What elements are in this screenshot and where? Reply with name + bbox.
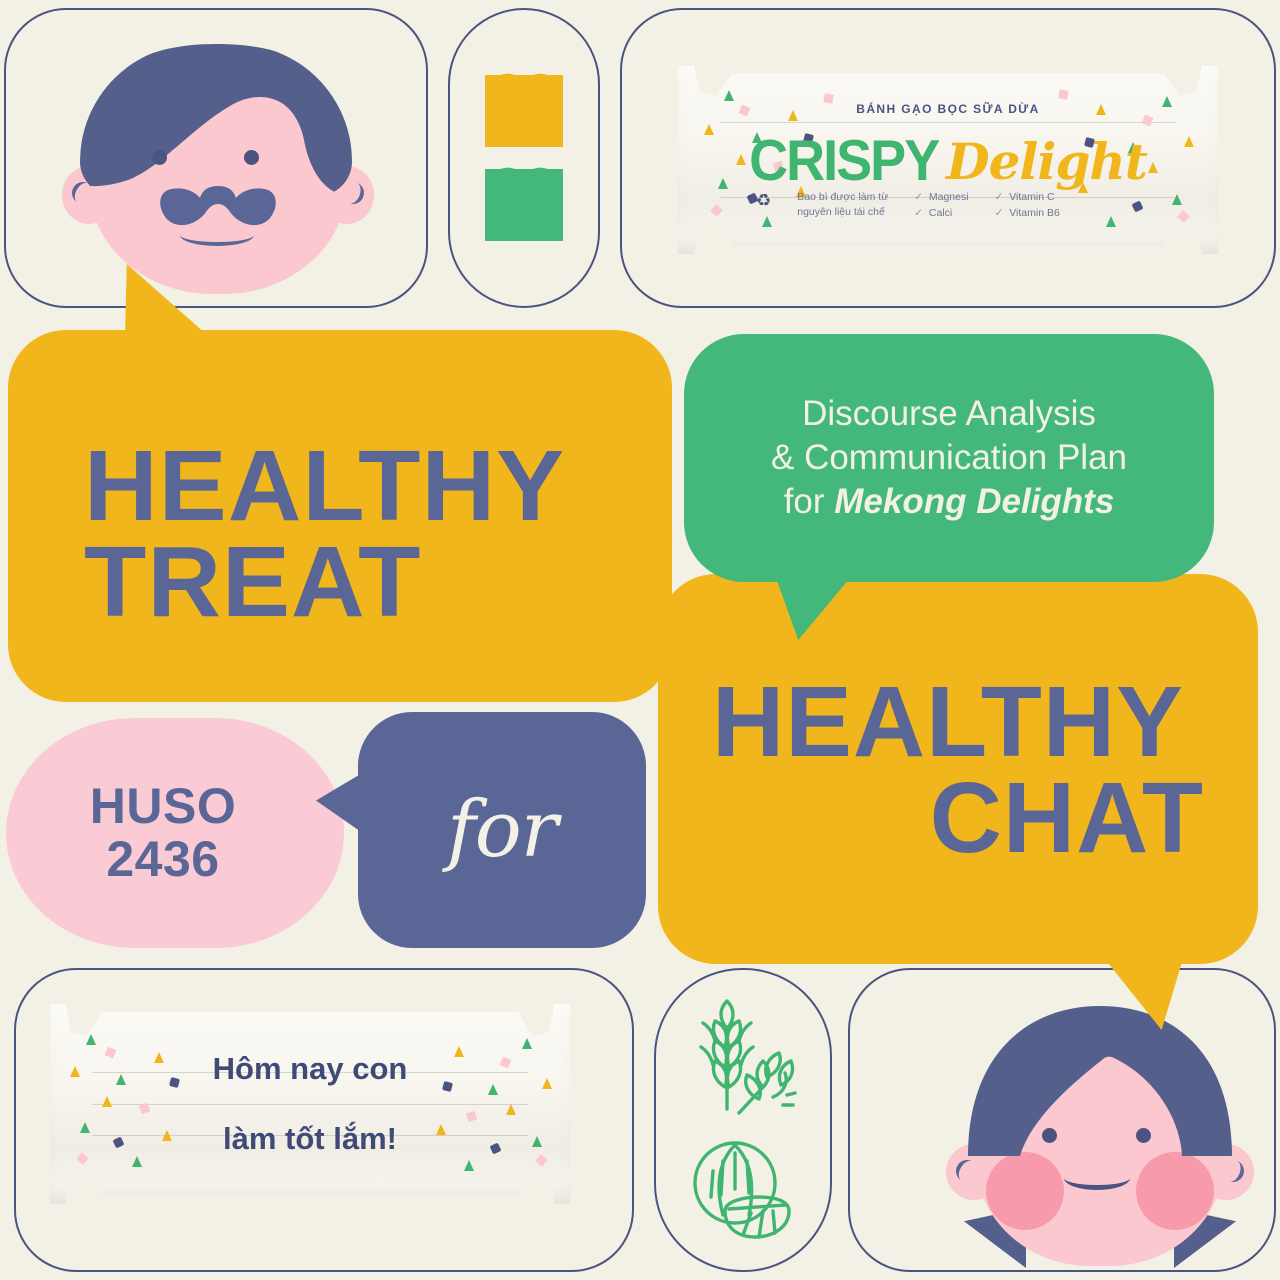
girl-smile bbox=[1064, 1166, 1130, 1190]
product-package: BÁNH GẠO BỌC SỮA DỪA CRISPY Delight ♻ Ba… bbox=[678, 66, 1218, 254]
project-title-text: Discourse Analysis & Communication Plan … bbox=[684, 334, 1214, 582]
heart-icon-green bbox=[485, 169, 563, 241]
bubble-chat-text: HEALTHY CHAT bbox=[658, 674, 1258, 866]
pack-footer: ♻ Bao bì được làm từ nguyên liệu tái chế… bbox=[756, 190, 1158, 223]
brand-secondary: Delight bbox=[946, 132, 1147, 191]
pack-message-line-2: làm tốt lắm! bbox=[223, 1121, 397, 1157]
pack-message-text: Hôm nay con làm tốt lắm! bbox=[50, 1004, 570, 1204]
course-code-badge: HUSO 2436 bbox=[6, 718, 344, 948]
project-title-line-3: for Mekong Delights bbox=[784, 480, 1115, 524]
chat-line-2: CHAT bbox=[712, 770, 1204, 866]
course-code: HUSO bbox=[90, 780, 236, 833]
treat-line-2: TREAT bbox=[84, 534, 565, 630]
girl-eye-right bbox=[1136, 1128, 1151, 1143]
man-eye-right bbox=[244, 150, 259, 165]
heart-icon-yellow bbox=[485, 75, 563, 147]
chat-line-1: HEALTHY bbox=[712, 674, 1204, 770]
card-man-face bbox=[4, 8, 428, 308]
card-girl-face bbox=[848, 968, 1276, 1272]
card-product: BÁNH GẠO BỌC SỮA DỪA CRISPY Delight ♻ Ba… bbox=[620, 8, 1276, 308]
card-ingredient-icons bbox=[654, 968, 832, 1272]
pack-logo: CRISPY Delight bbox=[678, 130, 1218, 192]
connector-label: for bbox=[358, 712, 646, 948]
treat-line-1: HEALTHY bbox=[84, 438, 565, 534]
card-pack-message: Hôm nay con làm tốt lắm! bbox=[14, 968, 634, 1272]
girl-face bbox=[950, 1000, 1250, 1264]
man-face bbox=[68, 38, 368, 298]
man-eye-left bbox=[152, 150, 167, 165]
coconut-nut-icon bbox=[689, 1135, 797, 1241]
recycle-note: Bao bì được làm từ nguyên liệu tái chế bbox=[797, 190, 888, 222]
girl-eye-left bbox=[1042, 1128, 1057, 1143]
recycle-icon: ♻ bbox=[756, 192, 771, 209]
nutrients-column-1: Magnesi Calci bbox=[914, 190, 968, 223]
poster-canvas: BÁNH GẠO BỌC SỮA DỪA CRISPY Delight ♻ Ba… bbox=[0, 0, 1280, 1280]
brand-primary: CRISPY bbox=[749, 128, 938, 194]
course-number: 2436 bbox=[106, 833, 219, 886]
pack-tagline: BÁNH GẠO BỌC SỮA DỪA bbox=[678, 102, 1218, 116]
pack-message-line-1: Hôm nay con bbox=[213, 1051, 408, 1087]
project-title-line-2: & Communication Plan bbox=[771, 436, 1127, 480]
nutrients-column-2: Vitamin C Vitamin B6 bbox=[995, 190, 1060, 223]
girl-cheek-left bbox=[986, 1152, 1064, 1230]
bubble-treat-text: HEALTHY TREAT bbox=[84, 438, 565, 630]
girl-cheek-right bbox=[1136, 1152, 1214, 1230]
connector-for-box: for bbox=[358, 712, 646, 948]
bubble-healthy-treat: HEALTHY TREAT bbox=[8, 330, 672, 702]
product-package-message: Hôm nay con làm tốt lắm! bbox=[50, 1004, 570, 1204]
bubble-project-title: Discourse Analysis & Communication Plan … bbox=[684, 334, 1214, 582]
man-mouth bbox=[180, 224, 254, 246]
card-hearts bbox=[448, 8, 600, 308]
wheat-icon bbox=[687, 999, 799, 1117]
project-brand: Mekong Delights bbox=[834, 482, 1114, 521]
bubble-healthy-chat: HEALTHY CHAT bbox=[658, 574, 1258, 964]
project-title-line-1: Discourse Analysis bbox=[802, 392, 1096, 436]
